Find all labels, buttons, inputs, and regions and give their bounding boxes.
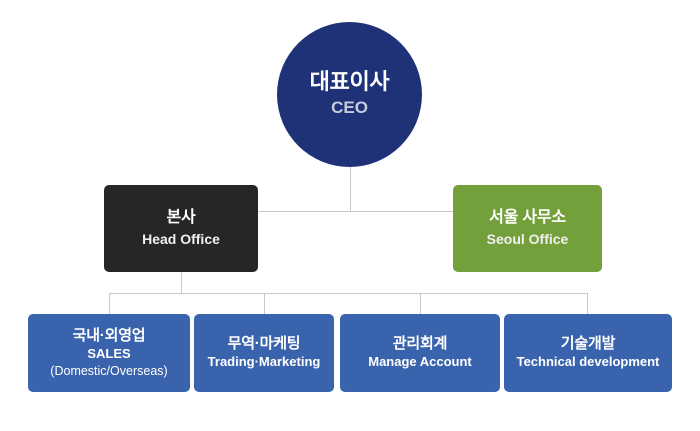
- connector-department-bus: [109, 293, 587, 294]
- node-department-trading-label-kr: 무역·마케팅: [228, 335, 301, 354]
- connector-level2-bus: [258, 211, 453, 212]
- node-head-office[interactable]: 본사 Head Office: [104, 185, 258, 272]
- node-department-account-label-kr: 관리회계: [393, 335, 447, 354]
- node-department-sales[interactable]: 국내·외영업 SALES (Domestic/Overseas): [28, 314, 190, 392]
- org-chart: 대표이사 CEO 본사 Head Office 서울 사무소 Seoul Off…: [0, 0, 700, 431]
- node-head-office-label-kr: 본사: [166, 208, 195, 228]
- connector-drop-technical: [587, 293, 588, 315]
- node-seoul-office-label-en: Seoul Office: [487, 230, 569, 248]
- connector-drop-account: [420, 293, 421, 315]
- node-department-trading-label-en: Trading·Marketing: [208, 354, 321, 371]
- node-seoul-office[interactable]: 서울 사무소 Seoul Office: [453, 185, 602, 272]
- node-department-sales-label-kr: 국내·외영업: [73, 327, 146, 346]
- node-department-sales-label-en2: (Domestic/Overseas): [50, 363, 167, 379]
- node-department-sales-label-en: SALES: [87, 346, 130, 363]
- node-head-office-label-en: Head Office: [142, 230, 220, 248]
- node-ceo-label-kr: 대표이사: [310, 69, 390, 95]
- connector-drop-sales: [109, 293, 110, 315]
- node-department-technical[interactable]: 기술개발 Technical development: [504, 314, 672, 392]
- node-department-technical-label-en: Technical development: [517, 354, 660, 371]
- node-seoul-office-label-kr: 서울 사무소: [489, 208, 566, 228]
- node-department-account[interactable]: 관리회계 Manage Account: [340, 314, 500, 392]
- node-ceo[interactable]: 대표이사 CEO: [277, 22, 422, 167]
- node-department-technical-label-kr: 기술개발: [561, 335, 615, 354]
- node-department-account-label-en: Manage Account: [368, 354, 472, 371]
- node-department-trading[interactable]: 무역·마케팅 Trading·Marketing: [194, 314, 334, 392]
- connector-ceo-down: [350, 166, 351, 212]
- node-ceo-label-en: CEO: [331, 97, 368, 119]
- connector-head-office-down: [181, 272, 182, 294]
- connector-drop-trading: [264, 293, 265, 315]
